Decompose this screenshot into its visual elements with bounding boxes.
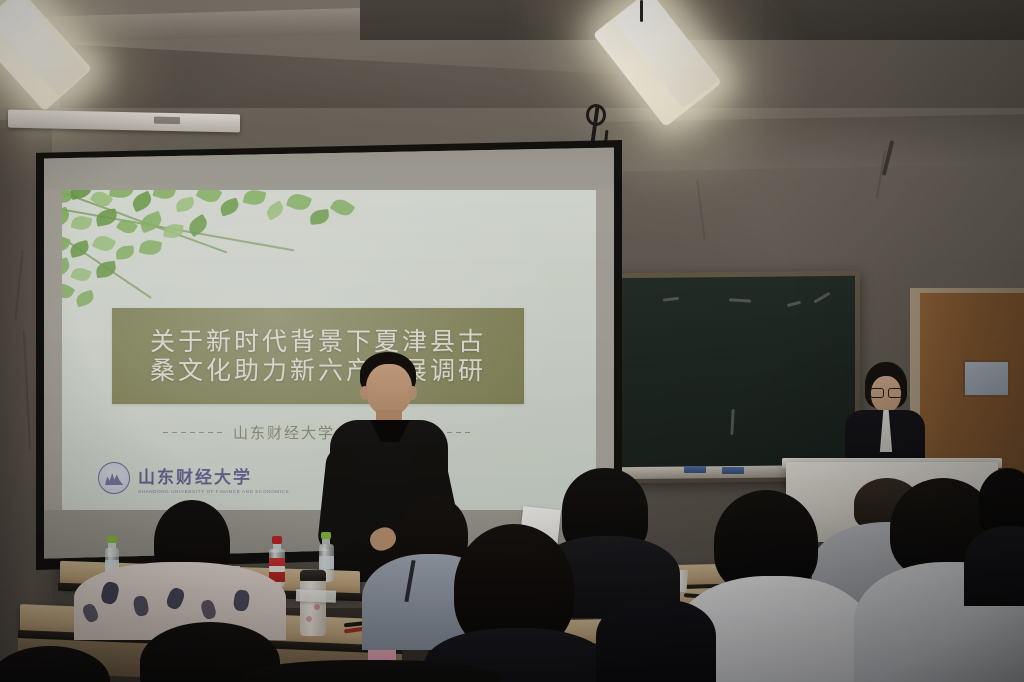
university-emblem-icon [98,462,130,494]
ear [360,386,369,400]
bottle-cap [272,536,282,544]
hair [0,646,110,682]
emblem-glyph [105,471,123,485]
leaf-decoration [62,190,378,315]
university-logo: 山东财经大学 SHANDONG UNIVERSITY OF FINANCE AN… [98,462,289,494]
audience-member [128,500,258,630]
thermos-pattern [306,616,312,622]
face [366,364,412,416]
chalk-mark [663,297,679,302]
classroom-scene: 关于新时代背景下夏津县古 桑文化助力新六产发展调研 山东财经大学金融学院 山东财… [0,0,1024,682]
audience-member [0,646,110,682]
screen-brand-label [154,117,180,125]
chalk-mark [787,301,801,307]
bottle-cap [321,532,331,539]
paper-sheet[interactable] [296,589,336,602]
logo-wordmark: 山东财经大学 SHANDONG UNIVERSITY OF FINANCE AN… [138,463,289,494]
bottle-label [319,556,334,569]
foreground-silhouette [596,600,716,682]
podium-attendant [845,362,925,472]
logo-chinese-name: 山东财经大学 [138,463,289,488]
audience-member [440,524,590,682]
board-eraser [722,467,744,474]
audience-member [978,468,1024,588]
thermos-pattern [314,604,320,610]
bottle-label-stripe [269,566,285,572]
door-window [963,360,1010,397]
chalk-mark [813,292,830,304]
chalk-mark [729,298,751,302]
thermos-lid [300,570,326,581]
glasses-icon [870,388,902,396]
chalk-mark [730,409,734,435]
ear [408,386,417,400]
light-cable [640,0,643,22]
logo-english-name: SHANDONG UNIVERSITY OF FINANCE AND ECONO… [138,489,289,494]
subtitle-dash-left [163,432,225,433]
thermos-cup[interactable] [300,570,326,636]
blackboard [617,276,855,470]
board-eraser [684,466,706,473]
